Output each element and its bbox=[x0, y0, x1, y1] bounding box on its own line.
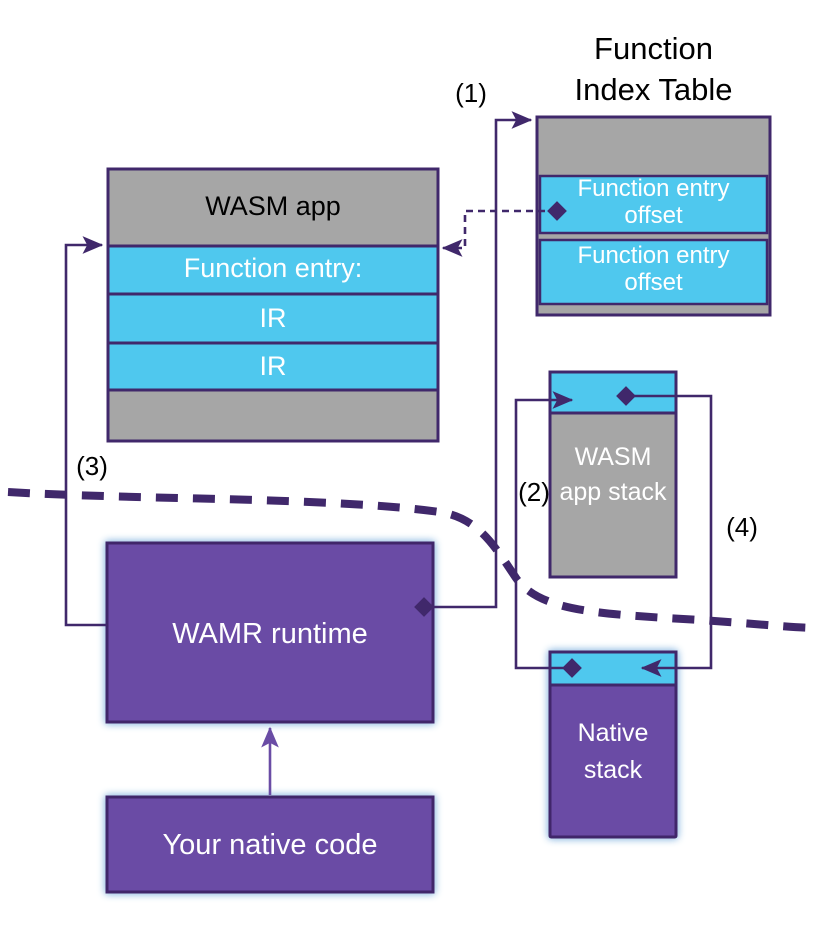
diagram-svg bbox=[0, 0, 819, 925]
wamr-runtime-box bbox=[107, 543, 433, 722]
wasm-app-row-header bbox=[108, 169, 438, 246]
wasm-app-stack-body bbox=[550, 413, 676, 577]
fit-row-entry-offset-2 bbox=[540, 240, 767, 304]
wasm-app-box bbox=[108, 169, 438, 441]
wasm-app-row-ir-2 bbox=[108, 343, 438, 390]
your-native-code-box bbox=[107, 797, 433, 892]
function-index-table-box bbox=[537, 117, 770, 315]
wasm-app-row-function-entry bbox=[108, 246, 438, 294]
connector-step-3 bbox=[66, 245, 107, 625]
connector-step-3-path bbox=[66, 245, 107, 625]
fit-row-entry-offset-1 bbox=[540, 176, 767, 233]
wasm-app-stack-top-bar bbox=[550, 372, 676, 413]
wasm-app-stack-box bbox=[550, 372, 676, 577]
diagram-canvas: Function Index Table (1) (2) (3) (4) WAS… bbox=[0, 0, 819, 925]
wasm-app-row-ir-1 bbox=[108, 294, 438, 343]
native-stack-box bbox=[550, 652, 676, 837]
wasm-app-row-footer bbox=[108, 390, 438, 441]
